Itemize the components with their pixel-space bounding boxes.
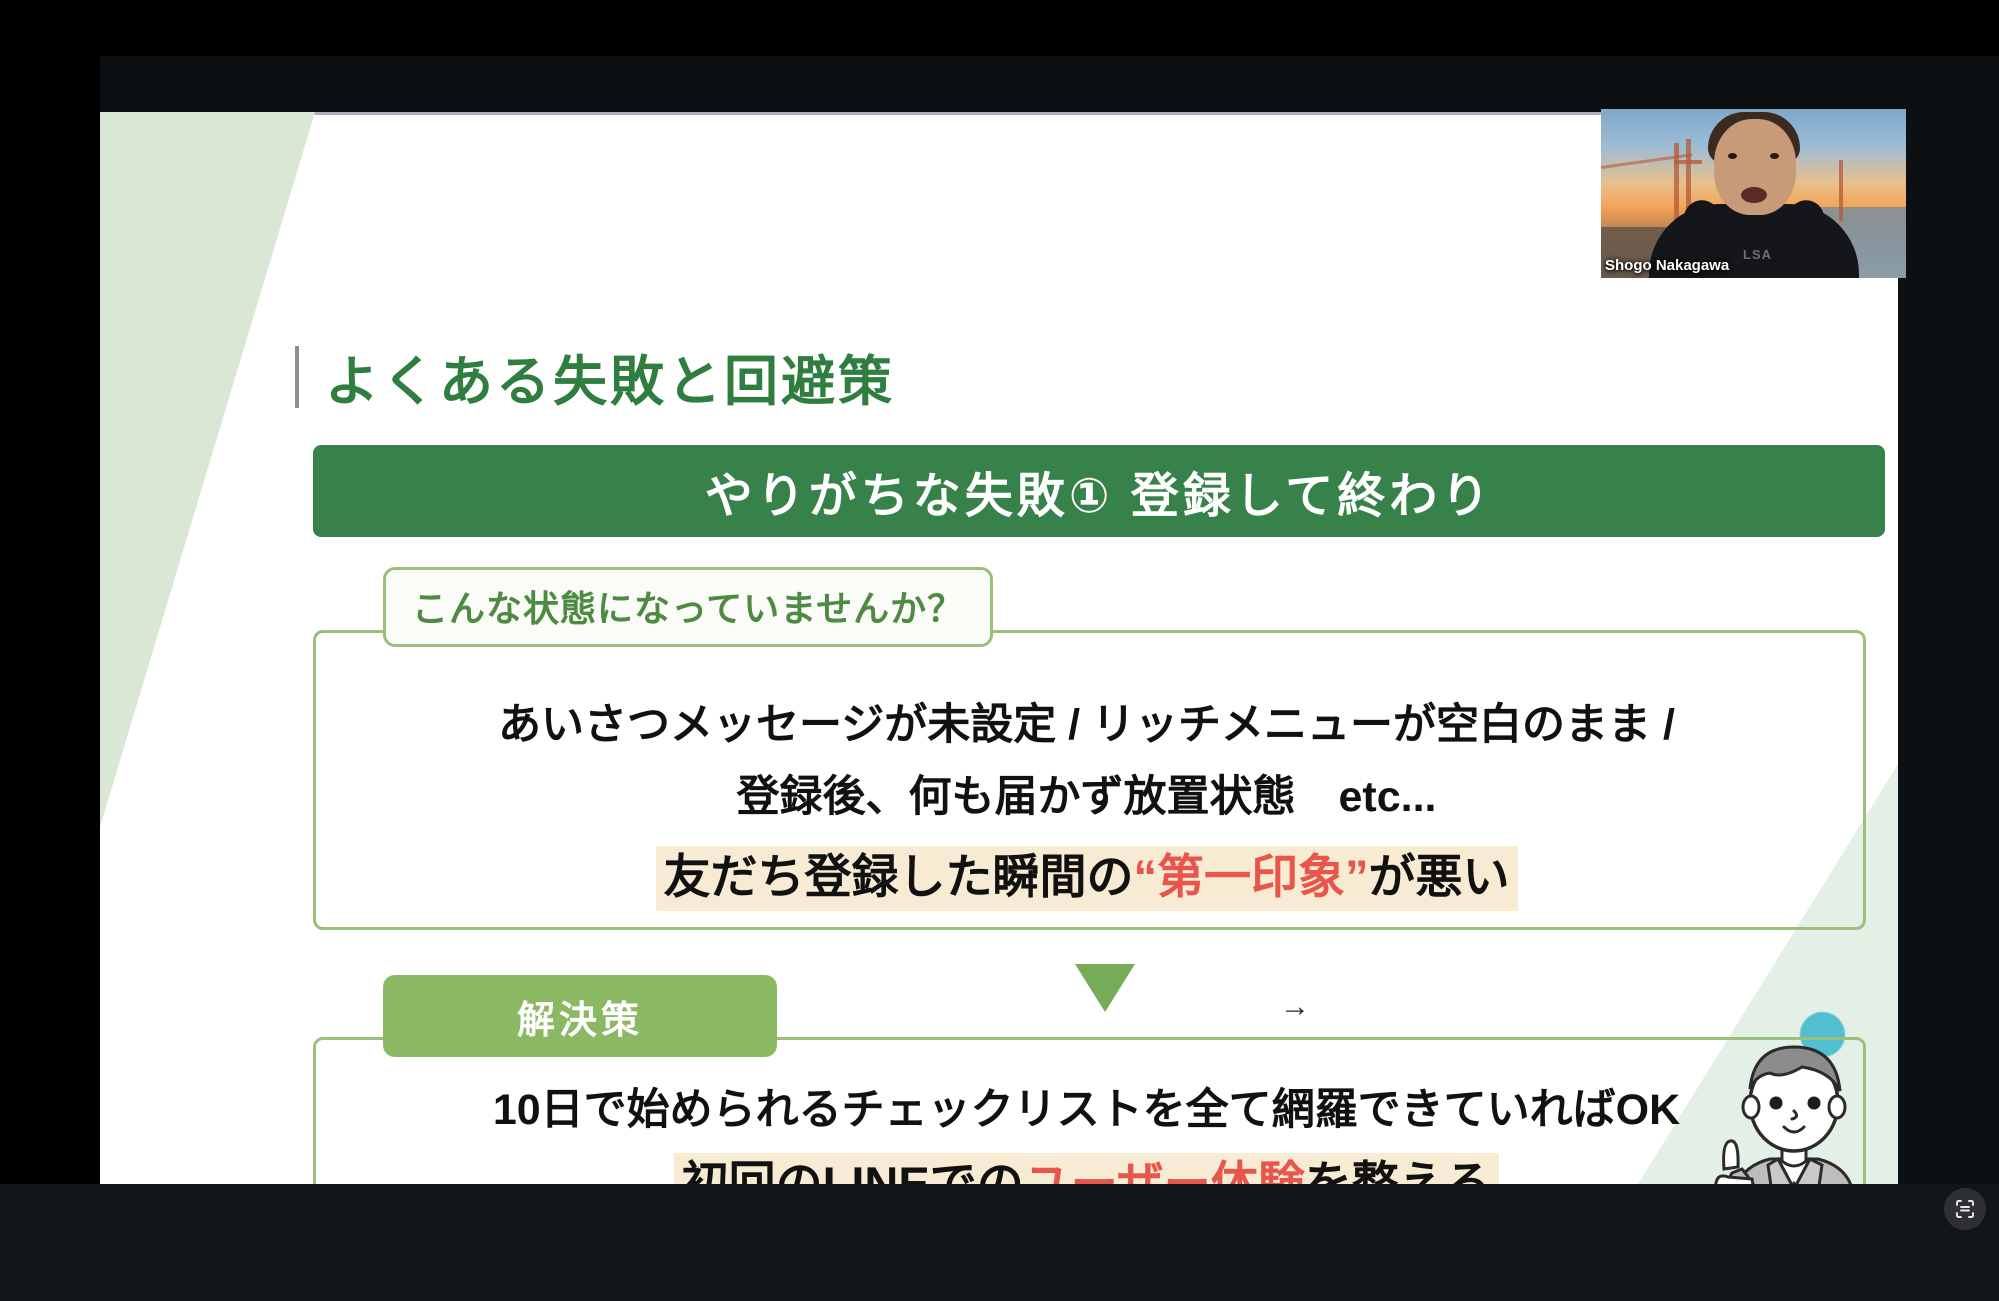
bridge-tower-right	[1839, 160, 1843, 221]
problem-line-2: 登録後、何も届かず放置状態 etc...	[313, 762, 1860, 824]
solution-line-1: 10日で始められるチェックリストを全て網羅できていればOK	[313, 1075, 1860, 1137]
stage-left-margin	[0, 56, 100, 1184]
solution-tab-label: 解決策	[517, 989, 643, 1044]
solution-line-2-highlight-wrap: 初回のLINEでのユーザー体験を整える	[674, 1153, 1500, 1184]
right-arrow-icon: →	[1280, 992, 1310, 1022]
solution-line-2: 初回のLINEでのユーザー体験を整える	[313, 1145, 1860, 1184]
solution-tab: 解決策	[383, 975, 777, 1057]
section-banner-text: やりがちな失敗① 登録して終わり	[705, 456, 1494, 526]
participant-name-label: Shogo Nakagawa	[1605, 257, 1729, 274]
participant-mouth	[1741, 187, 1767, 203]
decor-corner-top-left	[100, 112, 315, 827]
screen-root: よくある失敗と回避策 やりがちな失敗① 登録して終わり こんな状態になっていませ…	[0, 0, 1999, 1301]
title-text: よくある失敗と回避策	[325, 337, 895, 416]
solution-line-2-suffix: を整える	[1305, 1157, 1492, 1184]
text-scan-icon	[1953, 1197, 1977, 1221]
participant-video-tile[interactable]: LSA Shogo Nakagawa	[1601, 109, 1906, 278]
participant-hoodie-logo: LSA	[1732, 247, 1784, 262]
businessman-pointing-up-illustration	[1698, 1027, 1888, 1184]
participant-eye-left	[1728, 153, 1737, 159]
problem-line-3: 友だち登録した瞬間の“第一印象”が悪い	[313, 838, 1860, 907]
problem-line-3-emphasis: “第一印象”	[1134, 850, 1369, 903]
problem-line-3-suffix: が悪い	[1369, 850, 1510, 903]
solution-line-2-prefix: 初回のLINEでの	[682, 1157, 1024, 1184]
bridge-tower-crossbeam	[1674, 160, 1701, 164]
livetext-scan-button[interactable]	[1944, 1188, 1986, 1230]
problem-line-3-highlight-wrap: 友だち登録した瞬間の“第一印象”が悪い	[656, 846, 1518, 911]
solution-line-2-emphasis: ユーザー体験	[1024, 1157, 1305, 1184]
problem-line-3-prefix: 友だち登録した瞬間の	[664, 850, 1134, 903]
section-banner: やりがちな失敗① 登録して終わり	[313, 445, 1885, 537]
participant-eye-right	[1770, 153, 1779, 159]
letterbox-bottom	[0, 1184, 1999, 1301]
page-title: よくある失敗と回避策	[295, 337, 895, 416]
title-accent-bar	[295, 346, 299, 408]
down-triangle-icon	[1075, 964, 1135, 1012]
letterbox-top	[0, 0, 1999, 56]
problem-tab-label: こんな状態になっていませんか？	[383, 567, 993, 647]
problem-line-1: あいさつメッセージが未設定 / リッチメニューが空白のまま /	[313, 690, 1860, 752]
